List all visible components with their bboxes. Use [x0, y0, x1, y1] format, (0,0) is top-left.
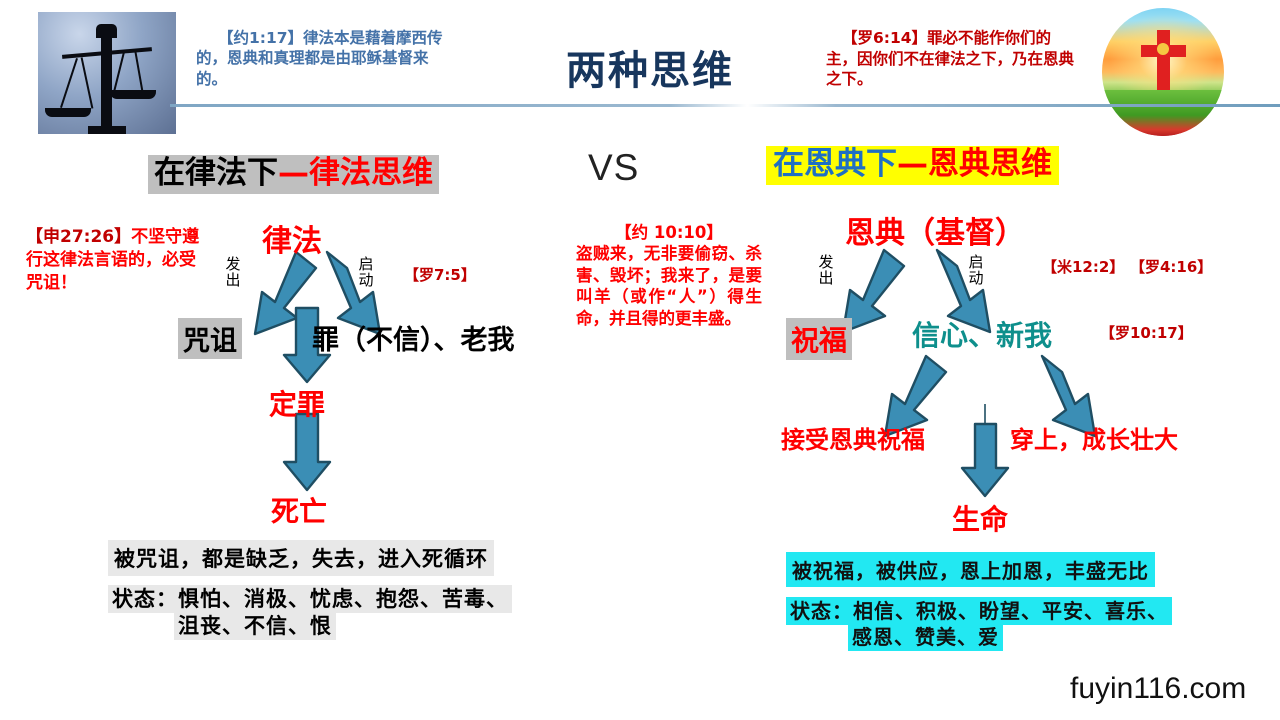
verse-john-ref: 【约 10:10】 [576, 222, 762, 243]
node-blessing: 祝福 [786, 318, 852, 360]
banner-under-law: 在律法下—律法思维 [148, 155, 439, 194]
summary-states-grace: 状态：相信、积极、盼望、平安、喜乐、感恩、赞美、爱 [786, 598, 1172, 650]
node-law: 律法 [262, 216, 322, 260]
summary-states-law-line2: 沮丧、不信、恨 [174, 612, 336, 640]
arrow-condemn-to-death [284, 414, 330, 490]
arrow-label-grace-activate: 启动 [968, 254, 984, 286]
slide-canvas: 【约1:17】律法本是藉着摩西传的，恩典和真理都是由耶稣基督来的。 两种思维 【… [0, 0, 1280, 720]
summary-blessed-abundance: 被祝福，被供应，恩上加恩，丰盛无比 [786, 552, 1155, 587]
verse-john-10-10: 【约 10:10】盗贼来，无非要偷窃、杀害、毁坏；我来了，是要叫羊（或作“人”）… [576, 222, 762, 329]
banner-under-grace: 在恩典下—恩典思维 [766, 146, 1059, 185]
balance-scales-image [38, 12, 176, 134]
header-verse-right: 【罗6:14】罪必不能作你们的主，因你们不在律法之下，乃在恩典之下。 [826, 28, 1078, 90]
verse-deut-27-26: 【申27:26】不坚守遵行这律法言语的，必受咒诅！ [26, 226, 202, 294]
node-life: 生命 [952, 498, 1008, 538]
banner-under-grace-blue: 在恩典下 [773, 146, 897, 182]
ref-romans-7-5: 【罗7:5】 [404, 264, 476, 285]
node-death: 死亡 [271, 490, 327, 530]
summary-states-grace-line1: 状态：相信、积极、盼望、平安、喜乐、 [786, 597, 1172, 625]
cross-sunrise-image [1102, 8, 1224, 136]
verse-deut-ref: 【申27:26】 [26, 227, 131, 247]
summary-states-grace-line2: 感恩、赞美、爱 [848, 623, 1003, 651]
arrow-to-life [962, 404, 1008, 496]
node-condemnation: 定罪 [269, 383, 325, 423]
summary-states-law: 状态：惧怕、消极、忧虑、抱怨、苦毒、沮丧、不信、恨 [108, 586, 512, 640]
summary-curse-cycle: 被咒诅，都是缺乏，失去，进入死循环 [108, 540, 494, 576]
arrow-label-grace-issue: 发出 [818, 254, 834, 286]
node-put-on-grow-strong: 穿上，成长壮大 [1010, 420, 1178, 455]
node-receive-grace-blessing: 接受恩典祝福 [781, 420, 925, 455]
vs-label: VS [588, 147, 639, 189]
arrow-law-to-curse [255, 252, 316, 334]
banner-under-law-black: 在律法下 [154, 155, 278, 191]
ref-romans-10-17: 【罗10:17】 [1100, 322, 1193, 343]
verse-john-body: 盗贼来，无非要偷窃、杀害、毁坏；我来了，是要叫羊（或作“人”）得生命，并且得的更… [576, 244, 762, 327]
node-curse: 咒诅 [178, 318, 242, 359]
node-sin-old-self: 罪（不信）、老我 [312, 318, 515, 357]
banner-under-law-red: —律法思维 [278, 155, 433, 191]
ref-romans-4-16: 【罗4:16】 [1130, 256, 1212, 277]
node-faith-new-self: 信心、新我 [912, 314, 1052, 354]
watermark: fuyin116.com [1070, 672, 1246, 706]
arrow-grace-to-blessing [843, 250, 904, 332]
arrow-label-law-issue: 发出 [225, 256, 241, 288]
page-title: 两种思维 [500, 38, 800, 96]
header-verse-left: 【约1:17】律法本是藉着摩西传的，恩典和真理都是由耶稣基督来的。 [196, 28, 456, 89]
node-grace-christ: 恩典（基督） [845, 208, 1025, 252]
arrow-label-law-activate: 启动 [358, 256, 374, 288]
summary-states-law-line1: 状态：惧怕、消极、忧虑、抱怨、苦毒、 [108, 585, 512, 613]
banner-under-grace-red: —恩典思维 [897, 146, 1052, 182]
header-divider [170, 104, 1280, 107]
ref-micah-12-2: 【米12:2】 [1042, 256, 1124, 277]
